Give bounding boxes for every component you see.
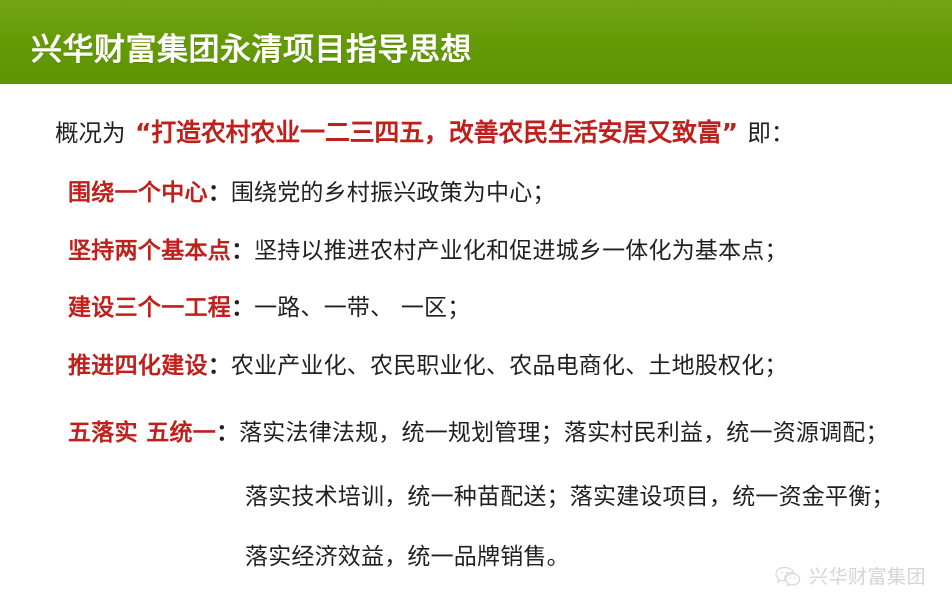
item-colon: ： xyxy=(231,238,254,264)
item-text: 一路、一带、 一区； xyxy=(254,295,470,321)
item-text: 落实法律法规，统一规划管理；落实村民利益，统一资源调配； xyxy=(239,420,889,446)
list-item: 五落实 五统一：落实法律法规，统一规划管理；落实村民利益，统一资源调配； xyxy=(68,418,889,448)
list-item-continuation: 落实技术培训，统一种苗配送；落实建设项目，统一资金平衡； xyxy=(245,482,895,512)
item-text: 农业产业化、农民职业化、农品电商化、土地股权化； xyxy=(231,353,788,379)
list-item: 坚持两个基本点：坚持以推进农村产业化和促进城乡一体化为基本点； xyxy=(68,236,788,266)
watermark-label: 兴华财富集团 xyxy=(809,566,926,588)
headline-prefix: 概况为 xyxy=(55,119,126,147)
list-item-continuation: 落实经济效益，统一品牌销售。 xyxy=(245,542,570,572)
list-item: 建设三个一工程：一路、一带、 一区； xyxy=(68,293,470,323)
slide-body: 概况为 “打造农村农业一二三四五，改善农民生活安居又致富” 即： 围绕一个中心：… xyxy=(0,84,952,616)
headline: 概况为 “打造农村农业一二三四五，改善农民生活安居又致富” 即： xyxy=(55,118,794,148)
wechat-icon xyxy=(775,566,801,588)
item-label-two-basics: 坚持两个基本点 xyxy=(68,238,231,264)
list-item: 推进四化建设：农业产业化、农民职业化、农品电商化、土地股权化； xyxy=(68,351,788,381)
item-colon: ： xyxy=(231,295,254,321)
headline-suffix: 即： xyxy=(747,119,794,147)
slide: 兴华财富集团永清项目指导思想 概况为 “打造农村农业一二三四五，改善农民生活安居… xyxy=(0,0,952,616)
item-label-one-center: 围绕一个中心 xyxy=(68,180,208,206)
title-band: 兴华财富集团永清项目指导思想 xyxy=(0,0,952,84)
headline-slogan: “打造农村农业一二三四五，改善农民生活安居又致富” xyxy=(135,118,738,147)
item-label-five-implementations: 五落实 五统一 xyxy=(68,420,216,446)
item-text: 围绕党的乡村振兴政策为中心； xyxy=(231,180,556,206)
item-label-three-ones: 建设三个一工程 xyxy=(68,295,231,321)
page-title: 兴华财富集团永清项目指导思想 xyxy=(31,29,472,71)
item-colon: ： xyxy=(216,420,239,446)
list-item: 围绕一个中心：围绕党的乡村振兴政策为中心； xyxy=(68,178,556,208)
watermark: 兴华财富集团 xyxy=(775,566,926,588)
item-text: 坚持以推进农村产业化和促进城乡一体化为基本点； xyxy=(254,238,788,264)
item-colon: ： xyxy=(208,180,231,206)
item-label-four-modernizations: 推进四化建设 xyxy=(68,353,208,379)
item-colon: ： xyxy=(208,353,231,379)
